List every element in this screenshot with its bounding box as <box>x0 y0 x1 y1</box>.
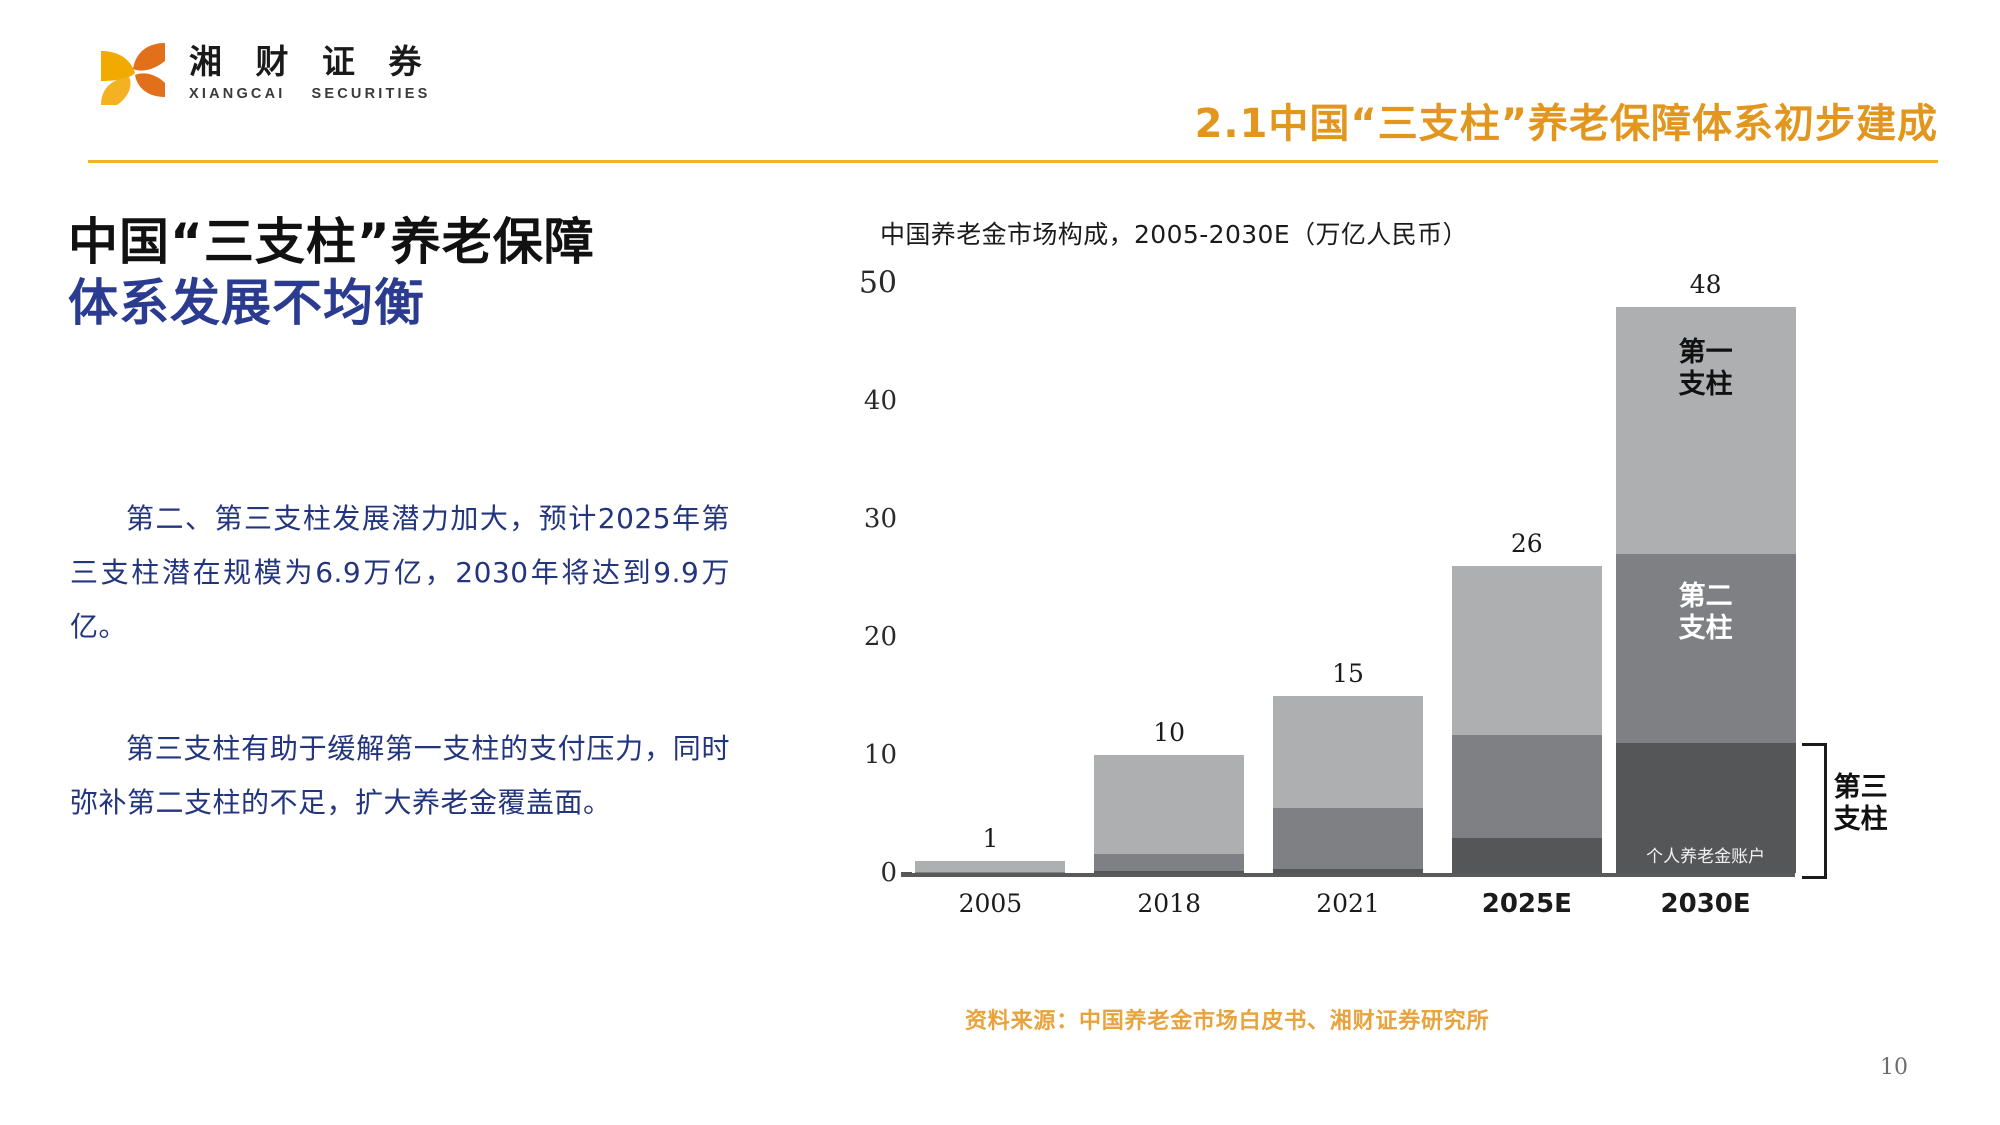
lead-heading: 中国“三支柱”养老保障 体系发展不均衡 <box>68 212 768 334</box>
x-axis-tick-2021: 2021 <box>1273 889 1423 918</box>
bar-2025E[interactable]: 26 <box>1452 566 1602 873</box>
lead-heading-line2: 体系发展不均衡 <box>68 273 768 334</box>
bar-value-label-2005: 1 <box>915 824 1065 853</box>
bar-segment-2005-pillar1[interactable] <box>915 861 1065 872</box>
bar-value-label-2025E: 26 <box>1452 529 1602 558</box>
brand-name-en-left: XIANGCAI <box>189 86 286 102</box>
y-axis-tick-10: 10 <box>835 740 897 770</box>
bar-value-label-2021: 15 <box>1273 659 1423 688</box>
bar-segment-2025E-pillar2[interactable] <box>1452 735 1602 838</box>
y-axis-tickmark-0 <box>901 872 912 874</box>
bar-2005[interactable]: 1 <box>915 861 1065 873</box>
x-axis-tick-2018: 2018 <box>1094 889 1244 918</box>
xiangcai-logo-icon <box>95 35 171 111</box>
bar-value-label-2018: 10 <box>1094 718 1244 747</box>
bar-segment-2025E-pillar3[interactable] <box>1452 838 1602 873</box>
brand-wordmark: 湘 财 证 券 XIANGCAISECURITIES <box>189 44 432 101</box>
bar-segment-label-pillar1: 第一支柱 <box>1616 337 1796 401</box>
chart-title: 中国养老金市场构成，2005-2030E（万亿人民币） <box>880 215 1468 251</box>
body-paragraph-2: 第三支柱有助于缓解第一支柱的支付压力，同时弥补第二支柱的不足，扩大养老金覆盖面。 <box>70 722 730 830</box>
pillar3-bracket-icon <box>1802 743 1827 879</box>
bar-value-label-2030E: 48 <box>1616 270 1796 299</box>
bar-segment-label-pillar2: 第二支柱 <box>1616 581 1796 645</box>
x-axis-tick-2030E: 2030E <box>1616 889 1796 919</box>
slide-header-title: 2.1中国“三支柱”养老保障体系初步建成 <box>1195 104 1938 144</box>
bar-2018[interactable]: 10 <box>1094 755 1244 873</box>
bar-segment-2021-pillar2[interactable] <box>1273 808 1423 869</box>
chart-plot-area: 0102030405012005102018152021262025E48第一支… <box>835 253 1945 919</box>
chart-x-axis-line <box>901 873 1795 877</box>
bar-segment-2018-pillar2[interactable] <box>1094 854 1244 871</box>
lead-heading-line1: 中国“三支柱”养老保障 <box>68 212 768 273</box>
y-axis-tick-30: 30 <box>835 504 897 534</box>
bar-segment-2005-pillar2[interactable] <box>915 872 1065 873</box>
body-paragraph-1: 第二、第三支柱发展潜力加大，预计2025年第三支柱潜在规模为6.9万亿，2030… <box>70 492 730 653</box>
pillar3-bracket-label: 第三支柱 <box>1834 772 1888 836</box>
x-axis-tick-2005: 2005 <box>915 889 1065 918</box>
personal-pension-account-label: 个人养老金账户 <box>1620 842 1792 867</box>
bar-segment-2021-pillar1[interactable] <box>1273 696 1423 808</box>
bar-segment-2025E-pillar1[interactable] <box>1452 566 1602 735</box>
brand-logo: 湘 财 证 券 XIANGCAISECURITIES <box>95 35 432 111</box>
y-axis-tick-40: 40 <box>835 386 897 416</box>
bar-segment-2021-pillar3[interactable] <box>1273 869 1423 873</box>
y-axis-tick-0: 0 <box>835 858 897 888</box>
bar-2021[interactable]: 15 <box>1273 696 1423 873</box>
x-axis-tick-2025E: 2025E <box>1452 889 1602 919</box>
bar-segment-2018-pillar3[interactable] <box>1094 871 1244 873</box>
bar-2030E[interactable]: 48第一支柱第二支柱个人养老金账户 <box>1616 307 1796 873</box>
header-divider <box>88 160 1938 163</box>
brand-name-en-right: SECURITIES <box>312 86 431 102</box>
chart-source-note: 资料来源：中国养老金市场白皮书、湘财证券研究所 <box>965 1003 1489 1035</box>
slide-root: 湘 财 证 券 XIANGCAISECURITIES 2.1中国“三支柱”养老保… <box>0 0 2000 1125</box>
brand-name-en: XIANGCAISECURITIES <box>189 86 432 102</box>
pension-market-chart: 中国养老金市场构成，2005-2030E（万亿人民币） 010203040501… <box>835 215 1945 975</box>
page-number: 10 <box>1880 1055 1908 1080</box>
brand-name-cn: 湘 财 证 券 <box>189 44 432 80</box>
y-axis-tick-20: 20 <box>835 622 897 652</box>
bar-segment-2018-pillar1[interactable] <box>1094 755 1244 854</box>
y-axis-tick-50: 50 <box>835 266 897 301</box>
